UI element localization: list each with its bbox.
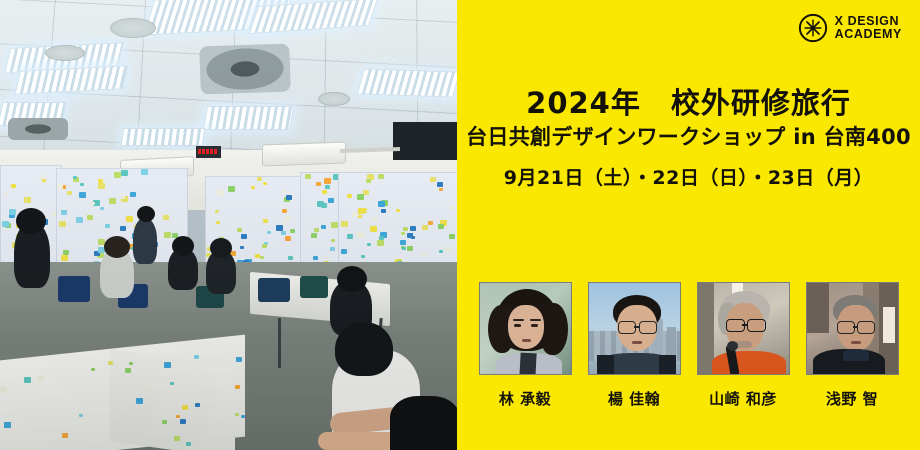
speaker-name: 浅野 智 (826, 388, 878, 409)
chair (300, 276, 328, 298)
x-design-academy-circle-x-icon (798, 13, 828, 43)
digital-clock (196, 146, 221, 158)
ceiling (0, 0, 457, 170)
ceiling-dome (318, 92, 350, 106)
ceiling-dome (45, 45, 85, 61)
participant-head (137, 206, 155, 222)
participant-head (335, 322, 393, 376)
speaker-photo (588, 282, 681, 375)
speaker-card[interactable]: 楊 佳翰 (588, 282, 681, 409)
ceiling-light (121, 128, 206, 146)
poster-title: 2024年 校外研修旅行 (457, 86, 920, 120)
speaker-photo (697, 282, 790, 375)
brand-line-2: ACADEMY (835, 28, 902, 42)
speaker-name: 楊 佳翰 (608, 388, 660, 409)
participant-head (337, 266, 367, 292)
speaker-photo (806, 282, 899, 375)
participant (133, 218, 157, 264)
ceiling-light (203, 106, 294, 130)
speakers-row: 林 承毅 (457, 282, 920, 409)
brand-logo-text: X DESIGN ACADEMY (835, 15, 902, 42)
table-leg (278, 318, 281, 368)
ceiling-light (357, 68, 457, 97)
ceiling-dome (110, 18, 156, 38)
poster-date: 9月21日（土）・22日（日）・23日（月） (457, 166, 920, 190)
participant-head (16, 208, 46, 234)
participant-head (210, 238, 232, 258)
speaker-name: 林 承毅 (499, 388, 551, 409)
speaker-card[interactable]: 林 承毅 (479, 282, 572, 409)
brand-logo[interactable]: X DESIGN ACADEMY (798, 13, 902, 43)
chair (258, 278, 290, 302)
brand-line-1: X DESIGN (835, 15, 902, 29)
air-conditioner (262, 142, 346, 167)
headline-block: 2024年 校外研修旅行 台日共創デザインワークショップ in 台南400 9月… (457, 86, 920, 190)
poster: X DESIGN ACADEMY 2024年 校外研修旅行 台日共創デザインワー… (0, 0, 920, 450)
speaker-photo (479, 282, 572, 375)
ceiling-vent (8, 118, 68, 140)
poster-subtitle: 台日共創デザインワークショップ in 台南400 (457, 122, 920, 152)
speaker-name: 山崎 和彦 (709, 388, 777, 409)
ceiling-vent (199, 43, 291, 94)
dark-doorway (393, 122, 457, 160)
participant-legs (318, 432, 398, 450)
participant-foreground (390, 396, 457, 450)
speaker-card[interactable]: 浅野 智 (806, 282, 899, 409)
workshop-photo (0, 0, 457, 450)
info-panel: X DESIGN ACADEMY 2024年 校外研修旅行 台日共創デザインワー… (457, 0, 920, 450)
participant-head (172, 236, 194, 256)
chair (58, 276, 90, 302)
speaker-card[interactable]: 山崎 和彦 (697, 282, 790, 409)
participant-head (104, 236, 130, 258)
